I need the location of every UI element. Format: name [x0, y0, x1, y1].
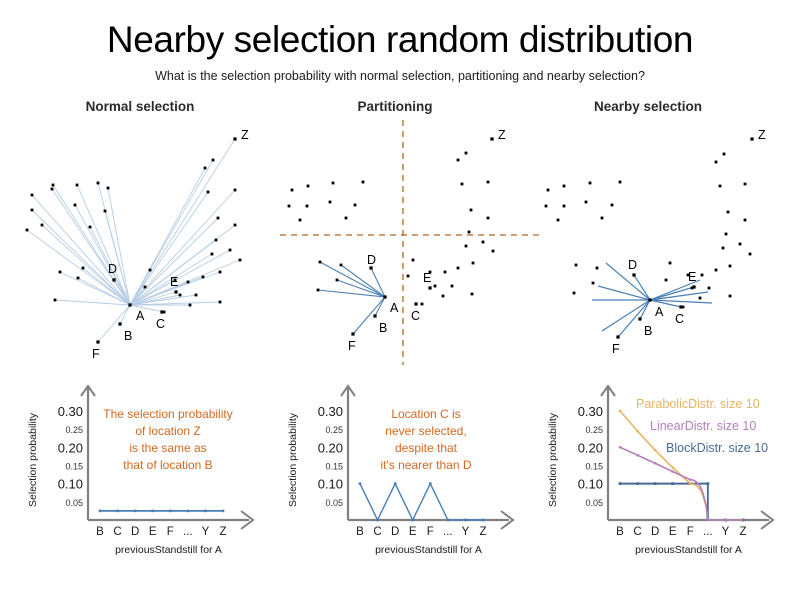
location-dot — [729, 295, 732, 298]
location-dot — [723, 153, 726, 156]
chart-annotation-line: never selected, — [385, 424, 466, 438]
location-dot — [715, 269, 718, 272]
location-dot — [545, 205, 548, 208]
series-line-block — [620, 484, 743, 520]
location-dot — [434, 285, 437, 288]
location-dot — [59, 271, 62, 274]
location-dot — [291, 189, 294, 192]
location-dot — [332, 182, 335, 185]
location-dot-z — [233, 137, 236, 140]
location-dot — [362, 181, 365, 184]
location-label-f: F — [612, 342, 620, 356]
y-tick-minor: 0.25 — [325, 425, 343, 435]
location-dot — [563, 205, 566, 208]
series-marker-block — [636, 482, 639, 485]
chart-annotation-line: Location C is — [391, 407, 460, 421]
location-dot — [487, 181, 490, 184]
location-dot — [457, 267, 460, 270]
series-marker — [376, 519, 379, 522]
location-dot — [97, 182, 100, 185]
x-tick-label: E — [669, 526, 677, 538]
page-subtitle: What is the selection probability with n… — [0, 69, 800, 83]
location-dot — [729, 265, 732, 268]
location-dot — [207, 191, 210, 194]
connection-line — [341, 265, 385, 297]
location-dot — [727, 211, 730, 214]
location-dot — [219, 271, 222, 274]
location-dot — [715, 161, 718, 164]
x-axis-title: previousStandstill for A — [635, 544, 742, 556]
chart-annotation-line: is the same as — [129, 441, 206, 455]
location-dot — [288, 205, 291, 208]
connection-line — [130, 218, 218, 305]
x-tick-label: C — [113, 526, 121, 538]
chart-nearby-selection: 0.300.200.100.250.150.05Selection probab… — [538, 370, 800, 590]
location-dot — [412, 259, 415, 262]
y-tick-major: 0.10 — [318, 477, 343, 492]
page-title: Nearby selection random distribution — [0, 18, 800, 62]
y-tick-major: 0.20 — [318, 440, 343, 455]
y-tick-minor: 0.25 — [65, 425, 83, 435]
location-dot — [573, 292, 576, 295]
location-dot — [189, 304, 192, 307]
location-dot — [719, 185, 722, 188]
location-label-d: D — [628, 258, 637, 272]
location-dot — [557, 219, 560, 222]
legend-entry: LinearDistr. size 10 — [650, 419, 756, 433]
y-axis-title: Selection probability — [27, 412, 39, 507]
location-dot — [74, 204, 77, 207]
series-marker — [204, 510, 207, 513]
location-dot — [468, 231, 471, 234]
x-tick-label: B — [96, 526, 104, 538]
location-label-a: A — [655, 305, 664, 319]
location-label-b: B — [379, 321, 387, 335]
location-dot — [26, 229, 29, 232]
location-dot — [451, 285, 454, 288]
location-dot — [54, 299, 57, 302]
connection-line — [52, 189, 130, 305]
location-label-d: D — [367, 253, 376, 267]
location-dot — [82, 267, 85, 270]
location-dot — [239, 259, 242, 262]
series-marker — [134, 510, 137, 513]
connection-line — [130, 139, 235, 305]
location-dot — [585, 201, 588, 204]
location-dot — [457, 159, 460, 162]
series-line — [360, 484, 483, 520]
location-dot-c — [414, 302, 417, 305]
location-dot — [725, 233, 728, 236]
location-dot — [563, 185, 566, 188]
series-marker — [222, 510, 225, 513]
x-tick-label: Z — [479, 526, 486, 538]
series-marker — [654, 449, 656, 451]
location-dot — [701, 274, 704, 277]
y-tick-minor: 0.05 — [585, 498, 603, 508]
chart-annotation-line: it's nearer than D — [380, 458, 471, 472]
series-marker — [654, 462, 656, 464]
location-dot — [461, 183, 464, 186]
location-dot-b — [118, 322, 121, 325]
location-dot — [187, 281, 190, 284]
location-label-e: E — [423, 271, 431, 285]
location-dot — [104, 210, 107, 213]
location-dot — [465, 152, 468, 155]
location-dot — [619, 181, 622, 184]
y-tick-major: 0.10 — [58, 477, 83, 492]
series-marker — [411, 519, 414, 522]
location-label-d: D — [108, 262, 117, 276]
location-label-b: B — [644, 324, 652, 338]
location-dot — [340, 264, 343, 267]
series-marker — [482, 519, 485, 522]
location-dot-d — [112, 278, 115, 281]
location-dot — [52, 184, 55, 187]
location-label-a: A — [390, 301, 399, 315]
x-tick-label: C — [373, 526, 381, 538]
x-tick-label: Y — [462, 526, 470, 538]
location-dot — [299, 219, 302, 222]
location-label-f: F — [348, 339, 356, 353]
location-label-z: Z — [241, 128, 249, 142]
series-marker — [429, 482, 432, 485]
diagram-partitioning: ABCDEFZ — [280, 120, 540, 365]
y-tick-major: 0.10 — [578, 477, 603, 492]
location-dot — [472, 262, 475, 265]
series-marker-block — [619, 482, 622, 485]
x-tick-label: E — [409, 526, 417, 538]
location-dot — [444, 271, 447, 274]
location-dot — [234, 189, 237, 192]
location-dot — [442, 295, 445, 298]
x-tick-label: ... — [183, 526, 193, 538]
location-dot-c — [160, 310, 163, 313]
location-dot — [345, 217, 348, 220]
series-marker — [619, 410, 621, 412]
location-dot — [306, 205, 309, 208]
location-dot — [329, 201, 332, 204]
location-label-z: Z — [498, 128, 506, 142]
location-dot — [739, 243, 742, 246]
location-dot — [195, 294, 198, 297]
x-tick-label: B — [356, 526, 364, 538]
series-marker-block — [654, 482, 657, 485]
location-dot — [149, 269, 152, 272]
location-dot — [722, 247, 725, 250]
location-dot — [219, 301, 222, 304]
location-dot — [336, 279, 339, 282]
y-tick-major: 0.20 — [58, 440, 83, 455]
location-label-c: C — [675, 312, 684, 326]
connection-line — [130, 192, 208, 305]
panel-heading-normal: Normal selection — [40, 99, 240, 114]
location-dot — [77, 277, 80, 280]
location-dot — [144, 286, 147, 289]
location-dot — [202, 276, 205, 279]
location-dot-b — [373, 314, 376, 317]
series-marker — [187, 510, 190, 513]
x-tick-label: B — [616, 526, 624, 538]
connection-line — [130, 240, 216, 305]
x-tick-label: ... — [443, 526, 453, 538]
location-dot — [482, 241, 485, 244]
chart-partitioning: 0.300.200.100.250.150.05Selection probab… — [278, 370, 548, 590]
series-marker — [447, 519, 450, 522]
location-label-a: A — [136, 309, 145, 323]
series-marker — [99, 510, 102, 513]
location-dot — [708, 287, 711, 290]
chart-annotation-line: of location Z — [135, 424, 200, 438]
location-dot-f — [96, 340, 99, 343]
x-tick-label: D — [651, 526, 659, 538]
series-marker — [672, 470, 674, 472]
legend-entry: BlockDistr. size 10 — [666, 441, 768, 455]
location-dot — [592, 282, 595, 285]
y-tick-minor: 0.25 — [585, 425, 603, 435]
y-tick-minor: 0.15 — [585, 461, 603, 471]
location-dot-f — [616, 335, 619, 338]
y-tick-major: 0.20 — [578, 440, 603, 455]
connection-line — [75, 205, 130, 305]
location-dot — [669, 262, 672, 265]
location-dot-d — [632, 273, 635, 276]
location-dot — [611, 204, 614, 207]
series-marker — [464, 519, 467, 522]
location-dot-e — [174, 290, 177, 293]
location-label-c: C — [156, 317, 165, 331]
series-marker — [636, 430, 638, 432]
series-marker — [151, 510, 154, 513]
y-tick-major: 0.30 — [58, 404, 83, 419]
x-tick-label: Z — [739, 526, 746, 538]
location-dot — [31, 209, 34, 212]
series-marker — [619, 446, 621, 448]
location-dot — [229, 249, 232, 252]
x-tick-label: C — [633, 526, 641, 538]
location-dot-e — [692, 285, 695, 288]
location-dot — [215, 239, 218, 242]
connection-line — [650, 287, 694, 300]
series-marker — [689, 482, 691, 484]
location-label-e: E — [688, 270, 696, 284]
chart-normal-selection: 0.300.200.100.250.150.05Selection probab… — [18, 370, 288, 590]
location-label-z: Z — [758, 128, 766, 142]
y-tick-minor: 0.05 — [325, 498, 343, 508]
x-tick-label: D — [391, 526, 399, 538]
location-dot — [492, 250, 495, 253]
location-dot — [89, 226, 92, 229]
location-dot — [204, 167, 207, 170]
series-marker — [169, 510, 172, 513]
location-dot — [601, 217, 604, 220]
y-tick-major: 0.30 — [578, 404, 603, 419]
x-tick-label: Y — [202, 526, 210, 538]
location-dot — [547, 189, 550, 192]
location-dot-a — [648, 298, 651, 301]
series-marker — [636, 454, 638, 456]
y-axis-title: Selection probability — [547, 412, 559, 507]
location-label-c: C — [411, 309, 420, 323]
location-dot — [744, 183, 747, 186]
series-marker-block — [706, 482, 709, 485]
location-dot-f — [351, 332, 354, 335]
panel-heading-partitioning: Partitioning — [295, 99, 495, 114]
location-dot — [41, 224, 44, 227]
location-dot — [31, 194, 34, 197]
location-dot — [51, 188, 54, 191]
location-dot — [699, 297, 702, 300]
x-tick-label: Z — [219, 526, 226, 538]
diagram-nearby-selection: ABCDEFZ — [540, 120, 800, 365]
location-dot-e — [428, 286, 431, 289]
location-dot — [470, 209, 473, 212]
location-dot — [749, 253, 752, 256]
chart-annotation-line: despite that — [395, 441, 458, 455]
location-label-e: E — [170, 275, 178, 289]
x-tick-label: D — [131, 526, 139, 538]
location-dot — [234, 224, 237, 227]
location-dot-z — [490, 137, 493, 140]
location-dot-a — [128, 303, 131, 306]
chart-annotation-line: that of location B — [123, 458, 212, 472]
x-tick-label: F — [167, 526, 174, 538]
location-dot — [465, 245, 468, 248]
location-label-b: B — [124, 329, 132, 343]
x-tick-label: Y — [722, 526, 730, 538]
location-dot — [212, 159, 215, 162]
location-label-f: F — [92, 347, 100, 361]
location-dot — [471, 293, 474, 296]
panel-heading-nearby: Nearby selection — [548, 99, 748, 114]
location-dot — [575, 264, 578, 267]
chart-annotation-line: The selection probability — [103, 407, 232, 421]
legend-entry: ParabolicDistr. size 10 — [636, 397, 760, 411]
y-tick-minor: 0.15 — [325, 461, 343, 471]
x-tick-label: ... — [703, 526, 713, 538]
location-dot — [211, 253, 214, 256]
location-dot — [76, 184, 79, 187]
series-marker — [116, 510, 119, 513]
series-marker — [689, 478, 691, 480]
series-marker — [672, 466, 674, 468]
y-axis-title: Selection probability — [287, 412, 299, 507]
location-dot — [407, 275, 410, 278]
location-dot-c — [679, 305, 682, 308]
x-axis-title: previousStandstill for A — [375, 544, 482, 556]
diagram-normal-selection: ABCDEFZ — [20, 120, 280, 365]
location-dot-b — [638, 317, 641, 320]
location-dot — [589, 182, 592, 185]
slide-root: Nearby selection random distribution Wha… — [0, 0, 800, 600]
x-axis-title: previousStandstill for A — [115, 544, 222, 556]
connection-line — [130, 260, 240, 305]
location-dot — [317, 289, 320, 292]
series-marker — [359, 482, 362, 485]
location-dot — [307, 185, 310, 188]
location-dot-a — [383, 295, 386, 298]
location-dot — [354, 204, 357, 207]
location-dot — [217, 217, 220, 220]
y-tick-minor: 0.15 — [65, 461, 83, 471]
x-tick-label: F — [427, 526, 434, 538]
series-marker-block — [671, 482, 674, 485]
connection-line — [32, 210, 130, 305]
location-dot — [596, 267, 599, 270]
location-dot — [107, 187, 110, 190]
y-tick-major: 0.30 — [318, 404, 343, 419]
location-dot — [421, 303, 424, 306]
y-tick-minor: 0.05 — [65, 498, 83, 508]
x-tick-label: E — [149, 526, 157, 538]
location-dot — [665, 279, 668, 282]
connection-line — [602, 300, 650, 331]
location-dot-z — [750, 137, 753, 140]
location-dot — [744, 219, 747, 222]
series-marker — [394, 482, 397, 485]
connection-line — [55, 300, 130, 305]
location-dot — [179, 294, 182, 297]
location-dot — [319, 261, 322, 264]
x-tick-label: F — [687, 526, 694, 538]
location-dot — [487, 217, 490, 220]
